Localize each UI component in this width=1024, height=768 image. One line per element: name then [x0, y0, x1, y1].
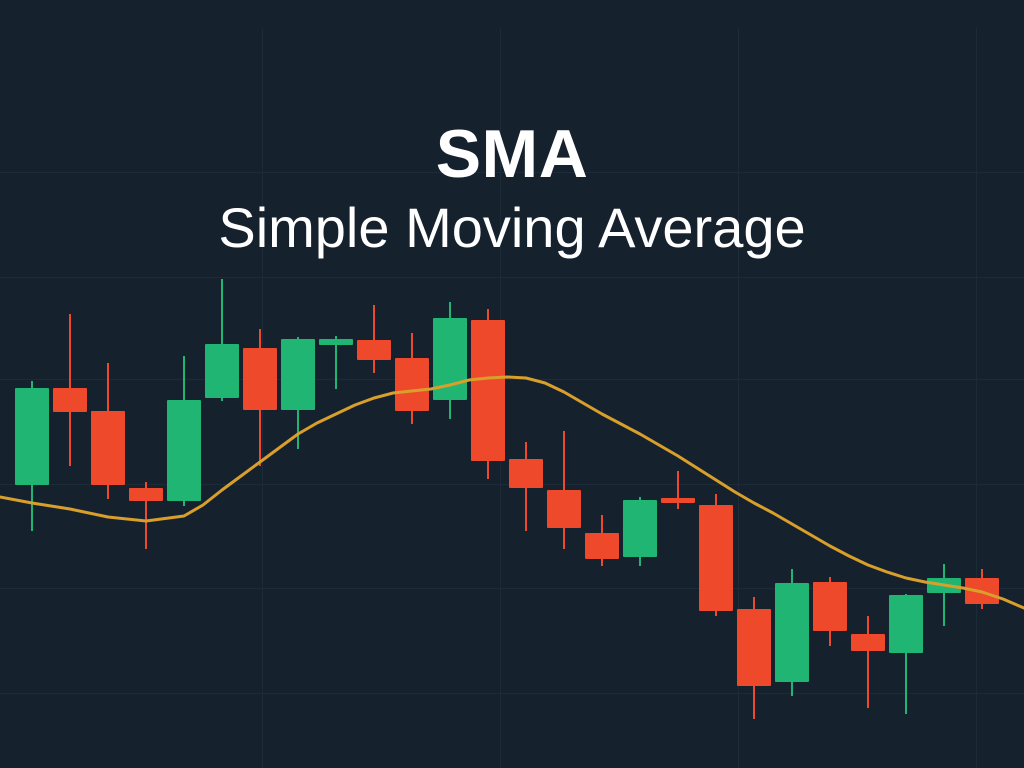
candle-body [53, 388, 87, 412]
candle-body [699, 505, 733, 611]
candle-body [281, 339, 315, 410]
candle-body [623, 500, 657, 557]
candle-body [319, 339, 353, 345]
candle-body [509, 459, 543, 488]
candlestick [281, 0, 315, 768]
chart-canvas: SMA Simple Moving Average [0, 0, 1024, 768]
candle-body [433, 318, 467, 400]
candlestick [965, 0, 999, 768]
candle-wick [943, 564, 945, 626]
candle-body [927, 578, 961, 593]
candle-body [129, 488, 163, 501]
candlestick [15, 0, 49, 768]
candlestick [205, 0, 239, 768]
candle-body [851, 634, 885, 651]
candle-body [965, 578, 999, 604]
candlestick [357, 0, 391, 768]
candlestick [53, 0, 87, 768]
candle-body [91, 411, 125, 485]
candle-body [15, 388, 49, 485]
candle-body [775, 583, 809, 682]
candlestick [167, 0, 201, 768]
candlestick [585, 0, 619, 768]
candle-wick [677, 471, 679, 509]
candlestick [91, 0, 125, 768]
page-subtitle: Simple Moving Average [0, 200, 1024, 256]
candle-wick [867, 616, 869, 708]
candle-body [243, 348, 277, 410]
candle-body [205, 344, 239, 398]
candle-body [357, 340, 391, 360]
candle-body [395, 358, 429, 411]
candlestick [737, 0, 771, 768]
candlestick [851, 0, 885, 768]
candlestick [813, 0, 847, 768]
candle-body [585, 533, 619, 559]
candle-body [471, 320, 505, 461]
candle-body [737, 609, 771, 686]
candle-body [167, 400, 201, 501]
candle-body [661, 498, 695, 503]
candlestick [395, 0, 429, 768]
candlestick [243, 0, 277, 768]
candlestick [661, 0, 695, 768]
candlestick [129, 0, 163, 768]
candlestick [889, 0, 923, 768]
candle-body [547, 490, 581, 528]
candle-wick [373, 305, 375, 373]
candle-body [813, 582, 847, 631]
candle-body [889, 595, 923, 653]
page-title: SMA [0, 120, 1024, 188]
candlestick [319, 0, 353, 768]
candlestick [699, 0, 733, 768]
candlestick [623, 0, 657, 768]
candlestick [927, 0, 961, 768]
candlestick [775, 0, 809, 768]
